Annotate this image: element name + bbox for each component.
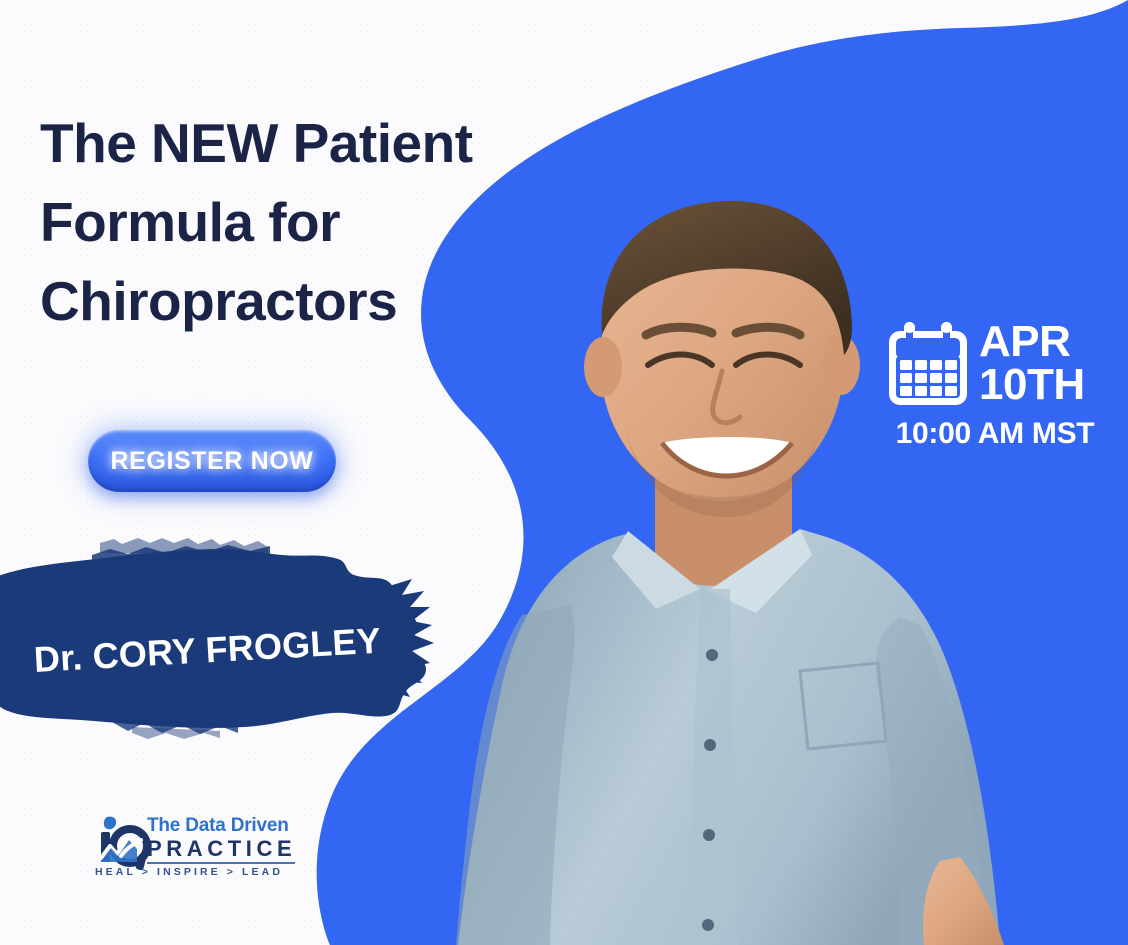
calendar-icon [886,322,970,408]
register-now-button[interactable]: REGISTER NOW [88,430,336,492]
headline-line-1: The NEW Patient [40,104,600,183]
brand-logo[interactable]: The Data Driven PRACTICE HEAL > INSPIRE … [95,810,295,888]
page-title: The NEW Patient Formula for Chiropractor… [40,104,600,342]
logo-line-2: PRACTICE [147,836,296,861]
event-date-text: APR 10TH [979,318,1085,406]
webinar-promo-banner: The NEW Patient Formula for Chiropractor… [0,0,1128,945]
logo-wordmark: The Data Driven PRACTICE [147,816,296,861]
event-day: 10TH [979,363,1085,406]
event-time: 10:00 AM MST [886,417,1104,451]
speaker-name-banner: Dr. CORY FROGLEY [0,535,452,740]
headline-line-3: Chiropractors [40,262,600,341]
logo-tagline: HEAL > INSPIRE > LEAD [95,866,295,878]
headline-line-2: Formula for [40,183,600,262]
logo-line-1: The Data Driven [147,816,296,836]
event-month: APR [979,320,1085,363]
logo-divider [147,862,295,864]
event-date-row: APR 10TH [886,318,1104,408]
iq-monogram-icon [95,814,151,870]
event-date-block: APR 10TH 10:00 AM MST [886,318,1104,451]
